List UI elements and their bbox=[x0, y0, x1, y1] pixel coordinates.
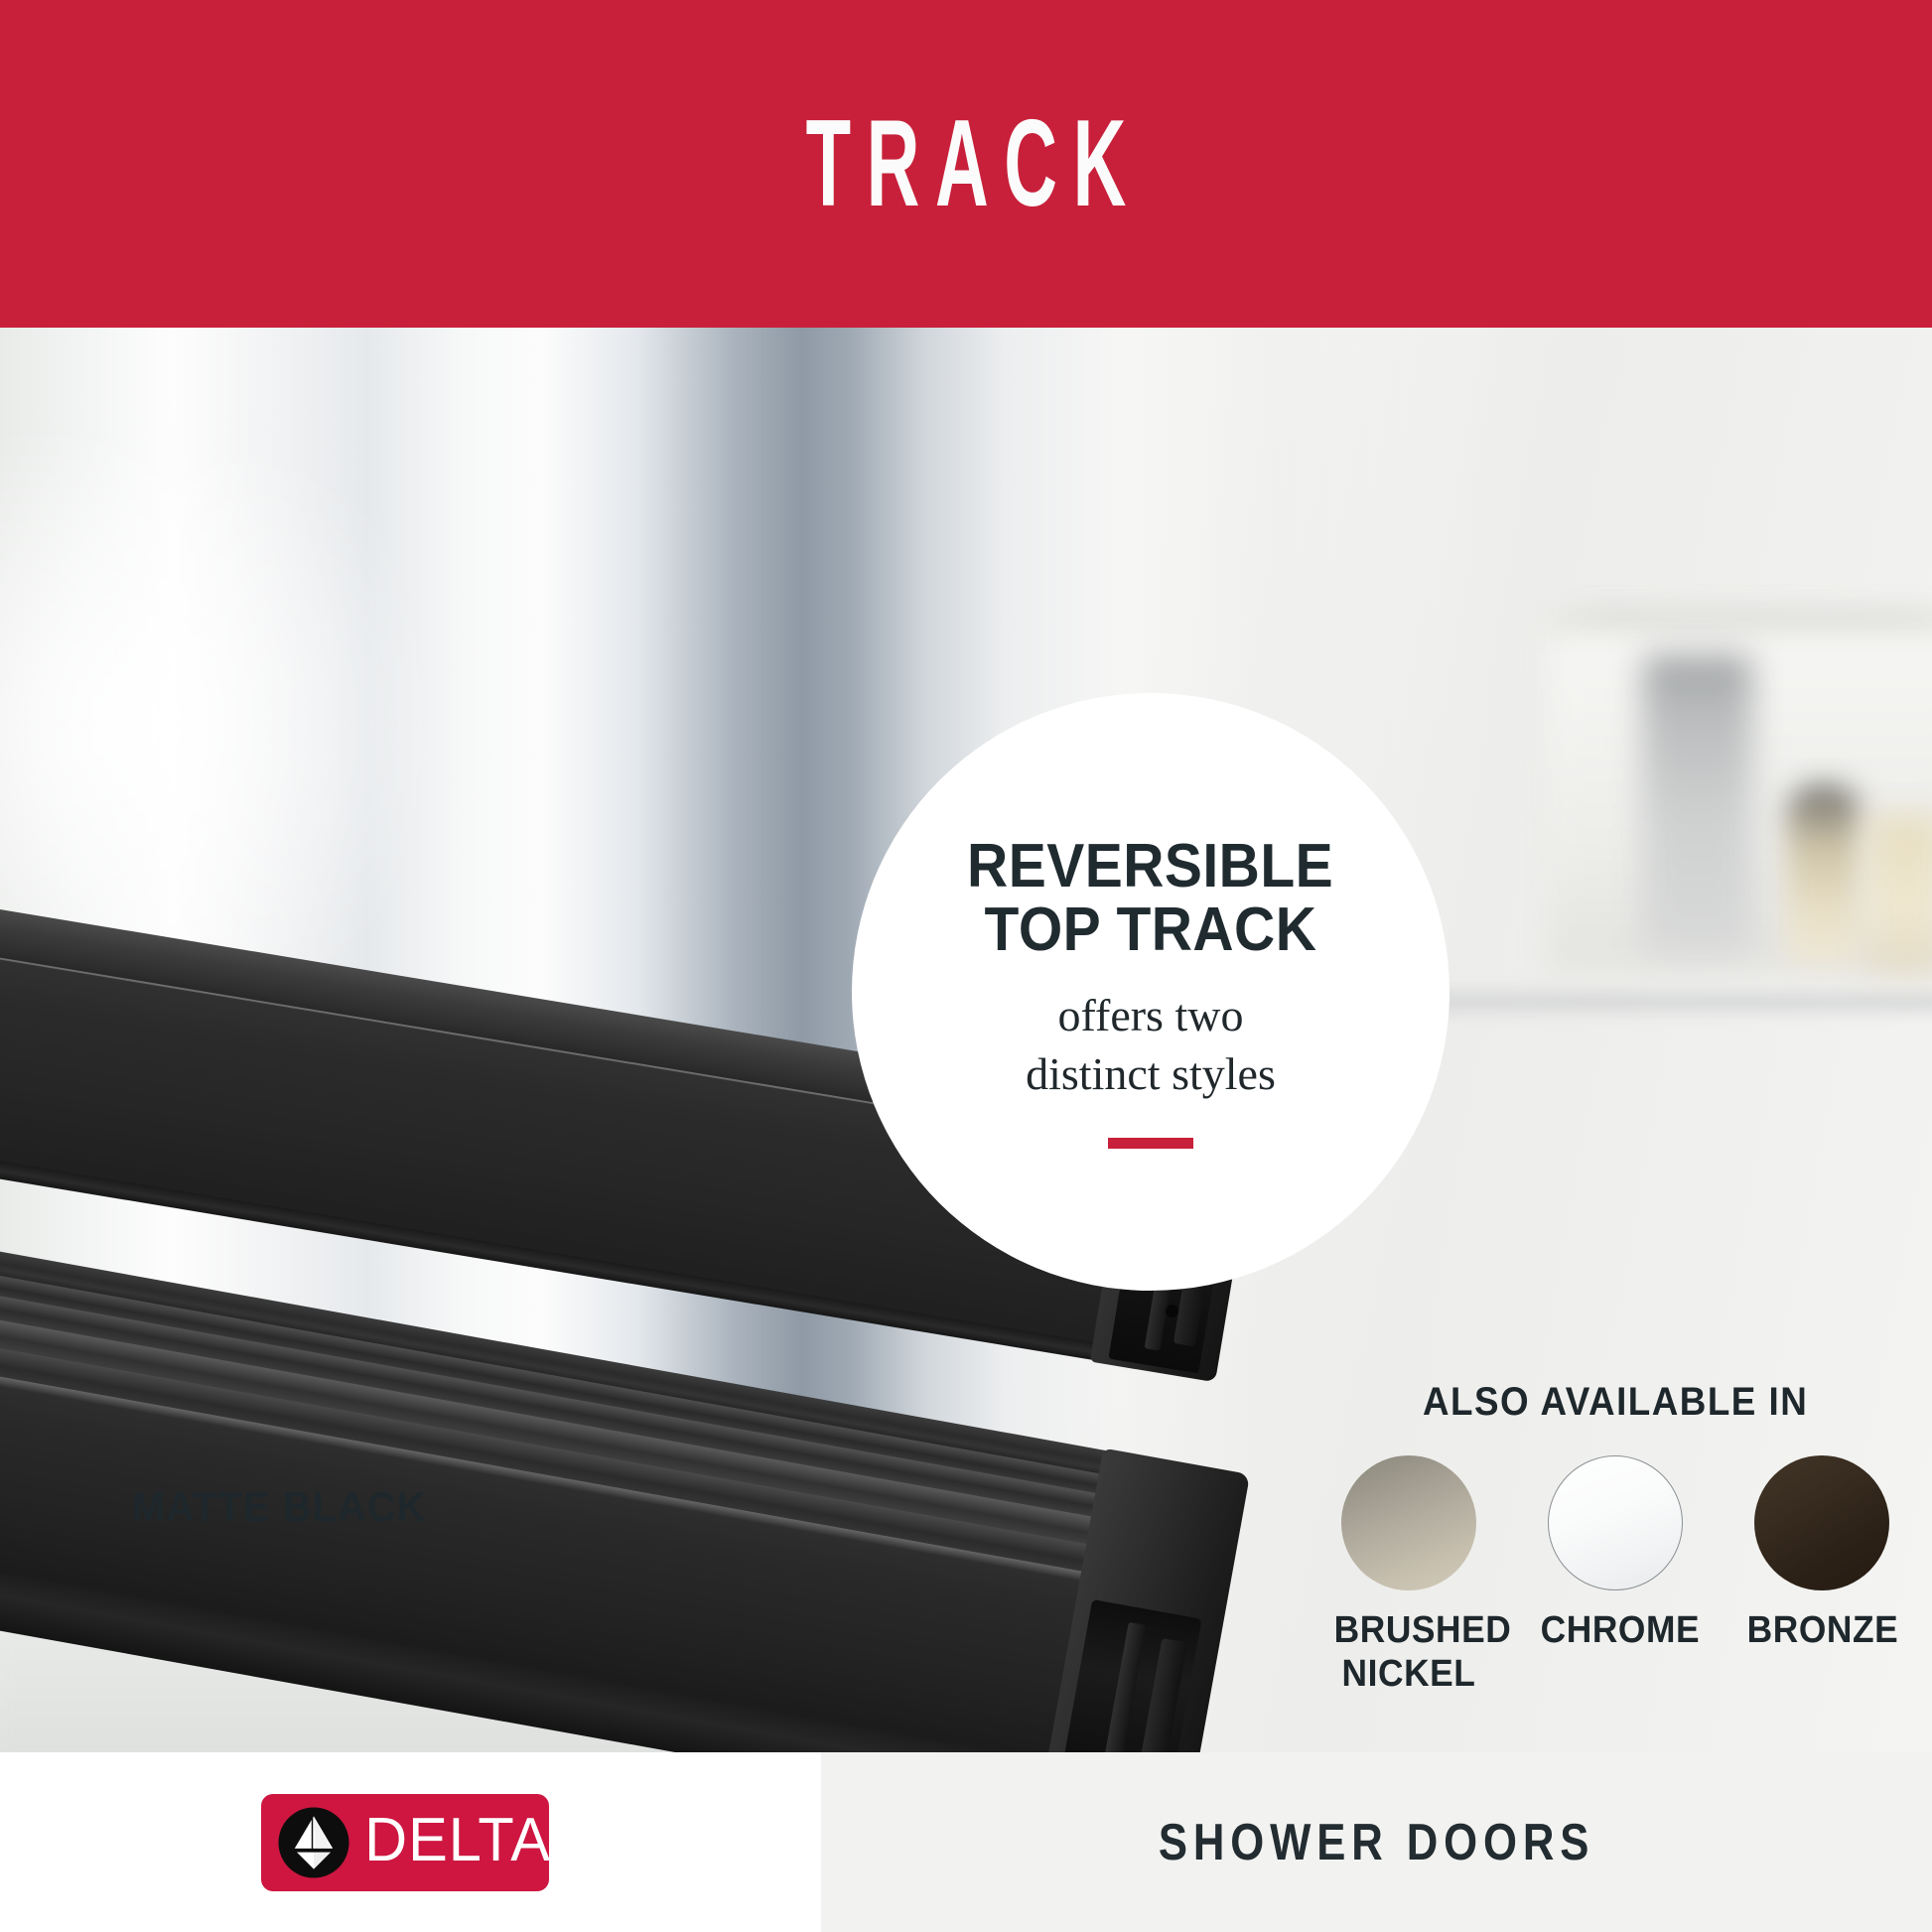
also-available-section: ALSO AVAILABLE IN bbox=[1383, 1380, 1879, 1425]
badge-subline-1: offers two bbox=[1058, 987, 1244, 1045]
delta-wordmark-text: DELTA bbox=[364, 1806, 551, 1874]
badge-headline-line1: REVERSIBLE bbox=[967, 835, 1333, 897]
bottle-icon bbox=[1866, 814, 1932, 973]
bronze-swatch-icon bbox=[1754, 1455, 1889, 1590]
finish-swatch-row: BRUSHED NICKEL CHROME BRONZE bbox=[1328, 1455, 1904, 1696]
footer: DELTA® SHOWER DOORS bbox=[0, 1752, 1932, 1932]
swatch-label: BRUSHED bbox=[1334, 1610, 1484, 1652]
footer-brand-panel: SHOWER DOORS bbox=[821, 1752, 1932, 1932]
footer-logo-panel: DELTA® bbox=[0, 1752, 821, 1932]
delta-wordmark: DELTA® bbox=[364, 1810, 563, 1871]
bottle-icon bbox=[1643, 655, 1752, 953]
delta-triangle-mark-icon bbox=[277, 1806, 350, 1879]
header-banner: TRACK bbox=[0, 0, 1932, 328]
bottle-icon bbox=[1787, 784, 1861, 963]
swatch-label: BRONZE bbox=[1747, 1610, 1897, 1652]
swatch-label: CHROME bbox=[1541, 1610, 1691, 1652]
matte-black-label: MATTE BLACK bbox=[132, 1483, 427, 1531]
badge-headline-line2: TOP TRACK bbox=[985, 898, 1317, 961]
badge-subline-2: distinct styles bbox=[1026, 1045, 1276, 1104]
brushed-nickel-swatch-icon bbox=[1341, 1455, 1476, 1590]
product-callout-page: TRACK REVERSIBLE TOP TRACK bbox=[0, 0, 1932, 1932]
swatch-label-2: NICKEL bbox=[1334, 1654, 1484, 1696]
finish-swatch-chrome[interactable]: CHROME bbox=[1535, 1455, 1696, 1696]
page-title: TRACK bbox=[790, 102, 1142, 225]
badge-accent-dash bbox=[1108, 1138, 1193, 1149]
also-available-title: ALSO AVAILABLE IN bbox=[1423, 1380, 1843, 1425]
chrome-swatch-icon bbox=[1548, 1455, 1683, 1590]
reversible-top-track-badge: REVERSIBLE TOP TRACK offers two distinct… bbox=[852, 693, 1449, 1291]
registered-mark-icon: ® bbox=[551, 1824, 563, 1843]
brand-line: SHOWER DOORS bbox=[1159, 1813, 1594, 1872]
finish-swatch-brushed-nickel[interactable]: BRUSHED NICKEL bbox=[1328, 1455, 1489, 1696]
finish-swatch-bronze[interactable]: BRONZE bbox=[1741, 1455, 1902, 1696]
delta-logo[interactable]: DELTA® bbox=[261, 1794, 549, 1891]
